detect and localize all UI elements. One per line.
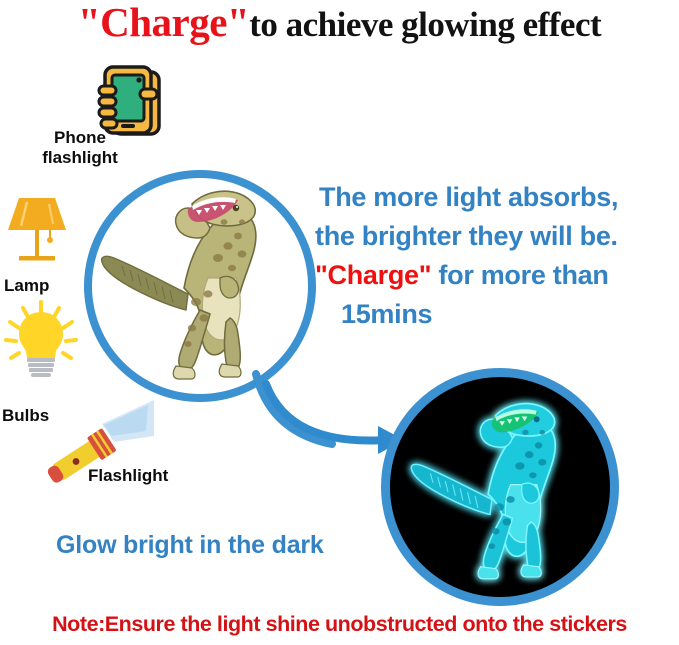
title-rest: to achieve glowing effect (249, 5, 601, 44)
headline-charge-word: "Charge" (315, 260, 431, 290)
phone-flashlight-label: Phone flashlight (30, 128, 130, 168)
headline-line-2: the brighter they will be. (305, 217, 679, 256)
flashlight-label: Flashlight (88, 466, 168, 486)
headline-line-4: 15mins (305, 295, 679, 334)
headline-line-3-rest: for more than (431, 260, 608, 290)
page-title: "Charge"to achieve glowing effect (0, 2, 679, 45)
phone-flashlight-label-line1: Phone (30, 128, 130, 148)
headline-text: The more light absorbs, the brighter the… (305, 178, 679, 334)
headline-line-3: "Charge" for more than (305, 256, 679, 295)
glow-caption: Glow bright in the dark (56, 531, 324, 560)
infographic-page: "Charge"to achieve glowing effect Phone … (0, 0, 679, 645)
phone-flashlight-label-line2: flashlight (30, 148, 130, 168)
headline-line-1: The more light absorbs, (305, 178, 679, 217)
glow-in-dark-circle (381, 368, 619, 606)
t-rex-dinosaur-glowing (398, 395, 610, 591)
lamp-label: Lamp (4, 276, 49, 296)
lamp-icon (5, 190, 73, 268)
bulb-icon (3, 300, 79, 380)
title-charge-word: "Charge" (78, 0, 249, 45)
bottom-note: Note:Ensure the light shine unobstructed… (0, 612, 679, 637)
t-rex-dinosaur-daylight (92, 182, 310, 392)
